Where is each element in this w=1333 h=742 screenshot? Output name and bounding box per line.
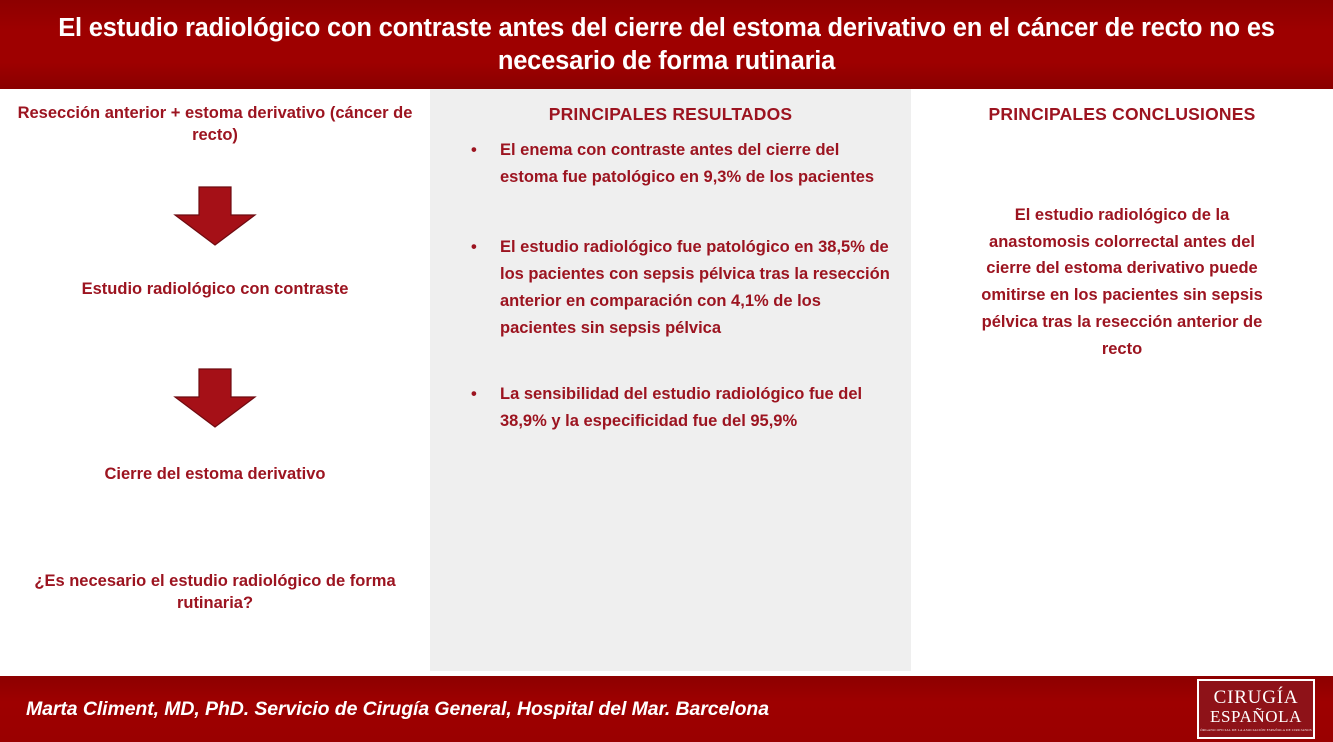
list-item-text: El enema con contraste antes del cierre … bbox=[500, 141, 874, 186]
list-item: • La sensibilidad del estudio radiológic… bbox=[430, 381, 911, 434]
list-item: • El estudio radiológico fue patológico … bbox=[430, 234, 911, 341]
logo-line-1: CIRUGÍA bbox=[1214, 688, 1299, 708]
list-item-text: El estudio radiológico fue patológico en… bbox=[500, 238, 890, 336]
flow-diagram-column: Resección anterior + estoma derivativo (… bbox=[0, 89, 430, 671]
list-item-text: La sensibilidad del estudio radiológico … bbox=[500, 385, 862, 430]
results-column: PRINCIPALES RESULTADOS • El enema con co… bbox=[430, 89, 911, 671]
page-title: El estudio radiológico con contraste ant… bbox=[14, 12, 1319, 77]
list-item: • El enema con contraste antes del cierr… bbox=[430, 137, 911, 190]
conclusions-column: PRINCIPALES CONCLUSIONES El estudio radi… bbox=[911, 89, 1333, 671]
logo-line-2: ESPAÑOLA bbox=[1210, 708, 1302, 726]
flow-step-3: Cierre del estoma derivativo bbox=[0, 464, 430, 486]
logo-subtitle: ÓRGANO OFICIAL DE LA ASOCIACIÓN ESPAÑOLA… bbox=[1200, 728, 1312, 732]
results-heading: PRINCIPALES RESULTADOS bbox=[430, 104, 911, 125]
flow-question: ¿Es necesario el estudio radiológico de … bbox=[0, 571, 430, 615]
slide-header: El estudio radiológico con contraste ant… bbox=[0, 0, 1333, 89]
down-arrow-icon bbox=[172, 367, 258, 429]
flow-step-2: Estudio radiológico con contraste bbox=[0, 279, 430, 301]
slide-footer: Marta Climent, MD, PhD. Servicio de Ciru… bbox=[0, 676, 1333, 742]
flow-step-1: Resección anterior + estoma derivativo (… bbox=[0, 103, 430, 147]
bullet-icon: • bbox=[471, 137, 477, 164]
conclusions-heading: PRINCIPALES CONCLUSIONES bbox=[911, 104, 1333, 125]
bullet-icon: • bbox=[471, 234, 477, 261]
bullet-icon: • bbox=[471, 381, 477, 408]
author-affiliation: Marta Climent, MD, PhD. Servicio de Ciru… bbox=[26, 698, 769, 721]
conclusion-text: El estudio radiológico de la anastomosis… bbox=[911, 202, 1333, 362]
slide-root: El estudio radiológico con contraste ant… bbox=[0, 0, 1333, 742]
cirugia-espanola-logo: CIRUGÍA ESPAÑOLA ÓRGANO OFICIAL DE LA AS… bbox=[1197, 679, 1315, 739]
down-arrow-icon bbox=[172, 185, 258, 247]
results-bullet-list: • El enema con contraste antes del cierr… bbox=[430, 137, 911, 479]
